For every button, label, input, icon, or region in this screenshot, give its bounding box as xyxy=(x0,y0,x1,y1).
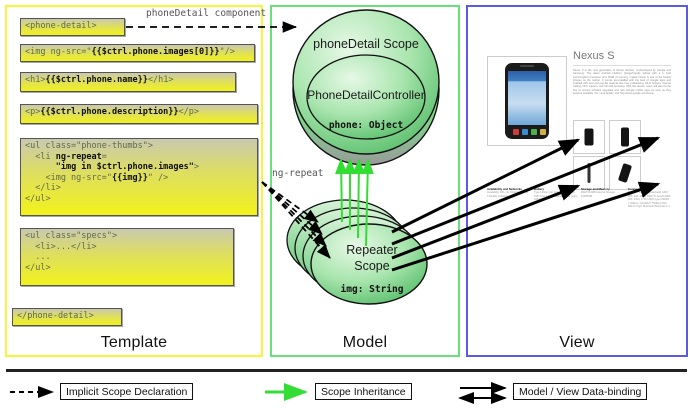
view-column-label: View xyxy=(466,334,688,352)
legend-item-implicit-scope-declaration: Implicit Scope Declaration xyxy=(60,383,193,400)
template-column-label: Template xyxy=(5,334,263,352)
diagram-overlay: phoneDetail Scope PhoneDetailController … xyxy=(0,0,693,417)
legend-item-scope-inheritance: Scope Inheritance xyxy=(315,383,412,400)
edge-label-ngrepeat: ng-repeat xyxy=(272,168,323,179)
repeater-property-label: img: String xyxy=(341,284,404,295)
legend-item-model-view-data-binding: Model / View Data-binding xyxy=(513,383,647,400)
repeater-scope-label-line2: Scope xyxy=(354,259,389,273)
data-binding-arrows xyxy=(392,138,658,270)
repeater-scope-label-line1: Repeater xyxy=(346,243,397,257)
controller-property-label: phone: Object xyxy=(329,120,403,131)
phonedetail-scope-label: phoneDetail Scope xyxy=(313,37,419,51)
architecture-diagram: <phone-detail> <img ng-src="{{$ctrl.phon… xyxy=(0,0,693,417)
model-column-label: Model xyxy=(270,334,460,352)
phonedetail-controller-label: PhoneDetailController xyxy=(307,88,424,102)
edge-label-component: phoneDetail component xyxy=(146,8,266,19)
legend-divider xyxy=(6,369,687,372)
